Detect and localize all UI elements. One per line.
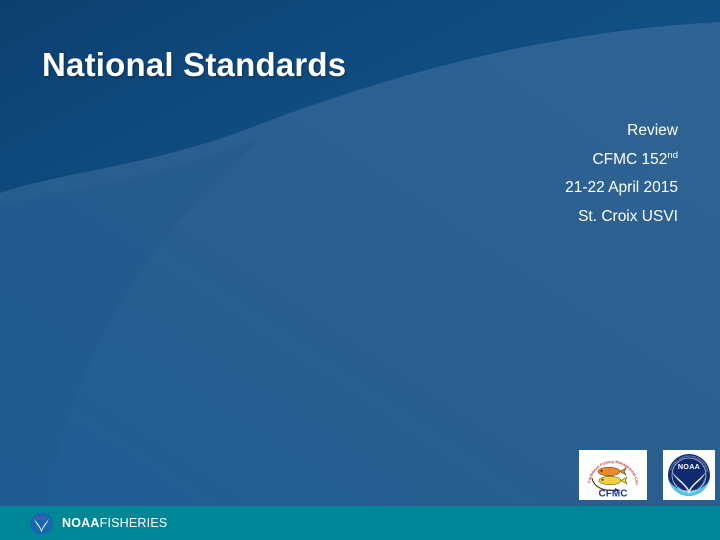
subtitle-line-location: St. Croix USVI (318, 203, 678, 232)
subtitle-meeting-text: CFMC 152 (592, 151, 667, 168)
noaa-seal-wordmark: NOAA (678, 462, 700, 471)
subtitle-line-meeting: CFMC 152nd (318, 146, 678, 175)
cfmc-fish-yellow-icon (599, 476, 627, 484)
footer-brand-noaa: NOAA (62, 516, 100, 530)
subtitle-block: Review CFMC 152nd 21-22 April 2015 St. C… (318, 117, 678, 231)
page-title: National Standards (42, 46, 346, 84)
cfmc-wordmark: CFMC (599, 489, 628, 500)
cfmc-logo: Caribbean Fishery Management Council CFM… (579, 450, 647, 500)
subtitle-meeting-ordinal: nd (667, 149, 678, 160)
footer-brand-fisheries: FISHERIES (100, 516, 168, 530)
presentation-slide: National Standards Review CFMC 152nd 21-… (0, 0, 720, 540)
noaa-footer-logo-wordmark: NOAA (37, 516, 47, 520)
noaa-seal-logo: NOAA NATIONAL OCEANIC AND ATMOSPHERIC U.… (663, 450, 715, 500)
subtitle-line-review: Review (318, 117, 678, 146)
noaa-seal-graphic: NOAA NATIONAL OCEANIC AND ATMOSPHERIC U.… (663, 450, 715, 500)
footer-brand: NOAAFISHERIES (62, 516, 167, 530)
noaa-footer-logo-icon: NOAA (30, 512, 53, 535)
cfmc-logo-graphic: Caribbean Fishery Management Council CFM… (579, 450, 647, 500)
subtitle-line-dates: 21-22 April 2015 (318, 174, 678, 203)
footer-bar: NOAA NOAAFISHERIES (0, 506, 720, 540)
cfmc-fish-orange-icon (598, 467, 626, 475)
